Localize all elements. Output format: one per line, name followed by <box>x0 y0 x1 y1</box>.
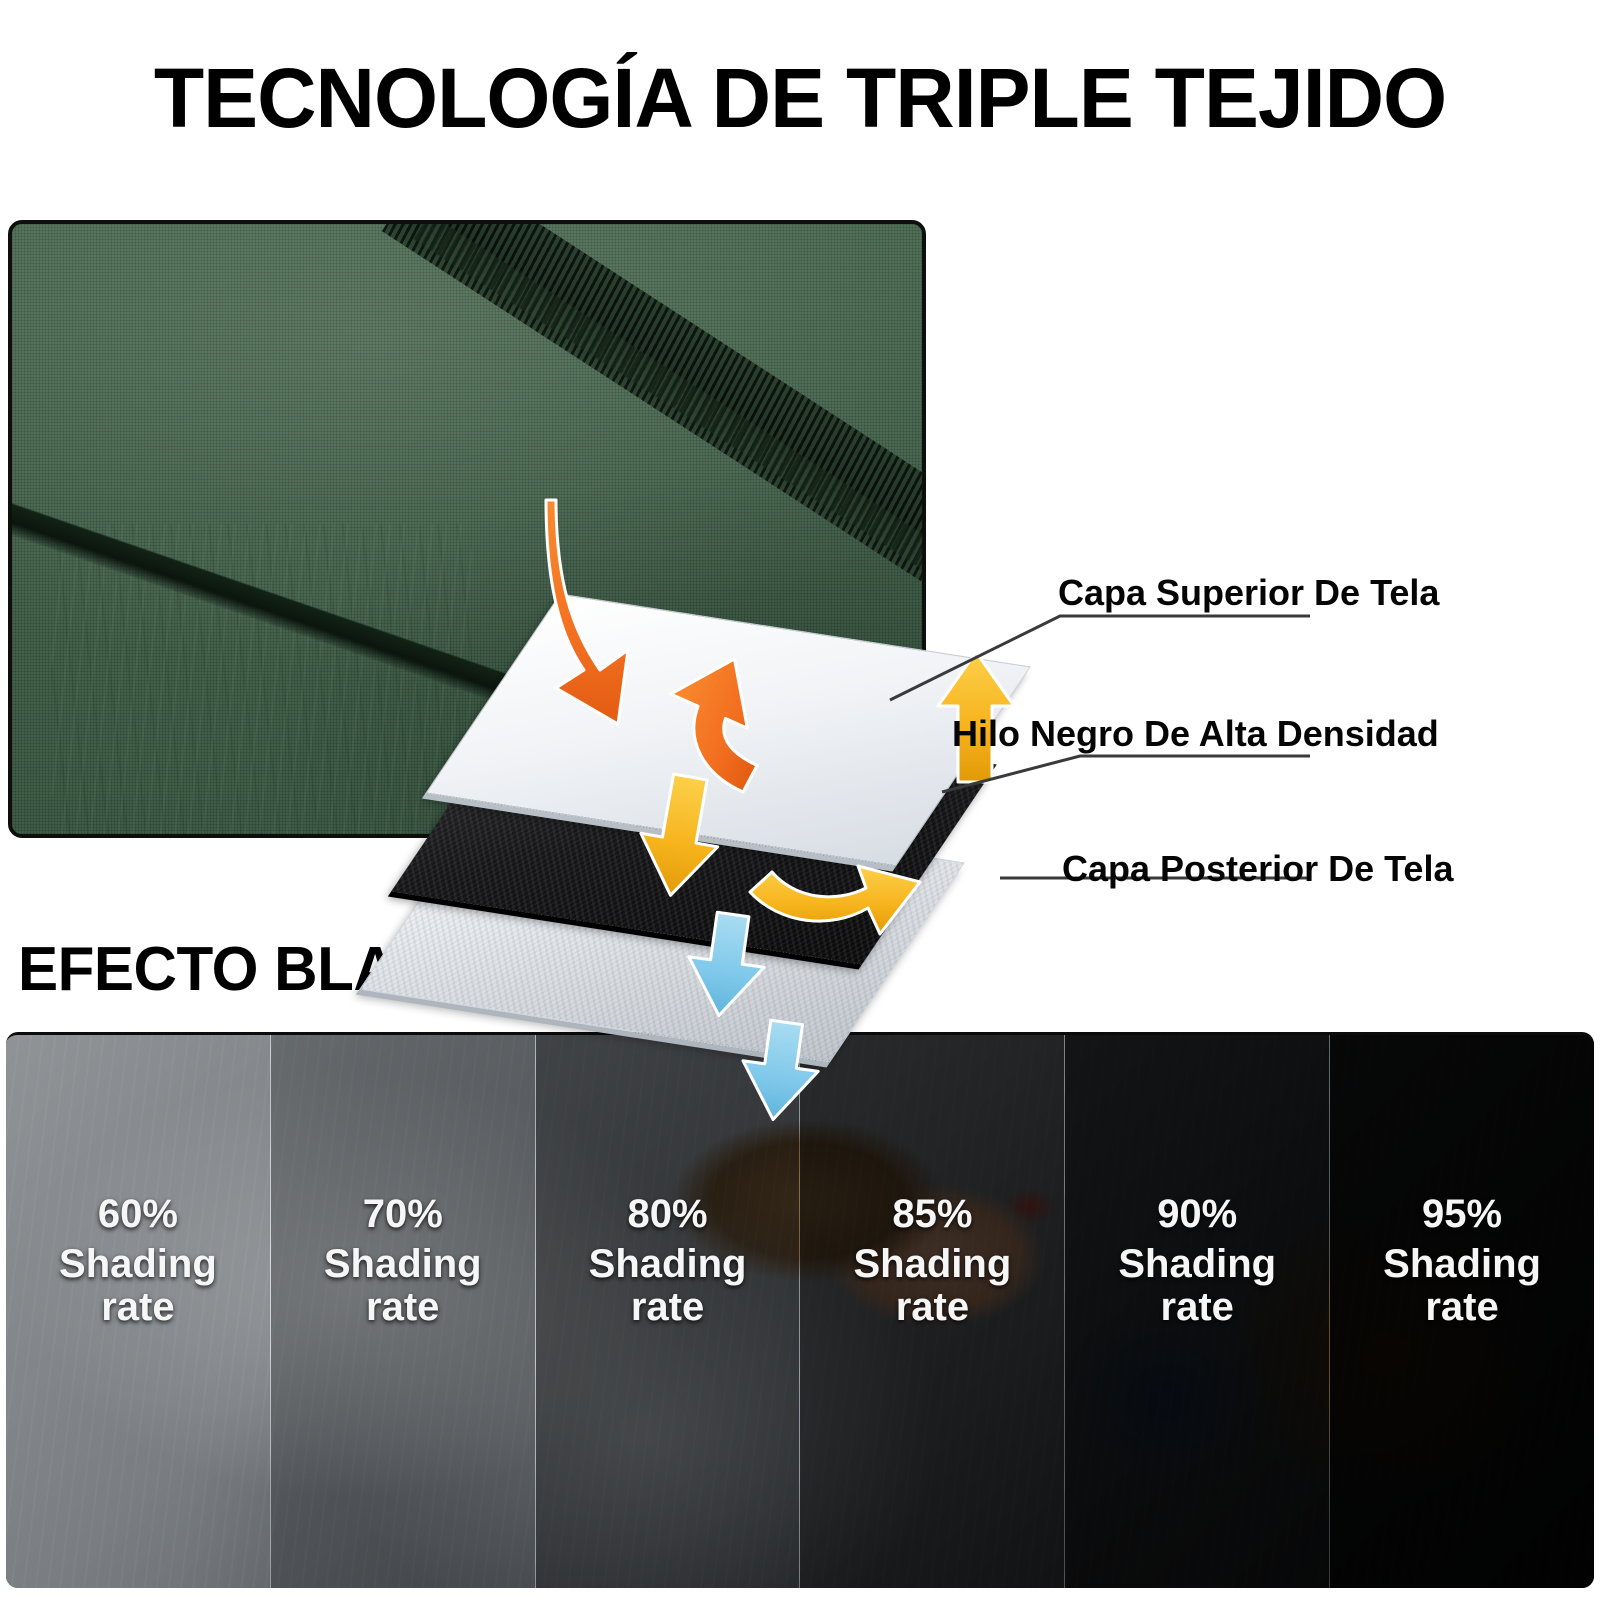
shading-label-line1-85: Shading <box>854 1243 1012 1285</box>
leader-line-top-layer <box>890 616 1310 700</box>
shading-panel-text-80: 80% Shading rate <box>589 1193 747 1328</box>
absorbed-heat-arrow-1 <box>631 770 729 902</box>
shading-percent-70: 70% <box>324 1193 482 1235</box>
shading-label-line2-80: rate <box>589 1286 747 1328</box>
shading-label-line2-70: rate <box>324 1286 482 1328</box>
shading-percent-60: 60% <box>59 1193 217 1235</box>
page-title: TECNOLOGÍA DE TRIPLE TEJIDO <box>16 56 1584 140</box>
shading-panel-text-90: 90% Shading rate <box>1118 1193 1276 1328</box>
blocked-light-arrow-1 <box>646 641 793 793</box>
shading-percent-95: 95% <box>1383 1193 1541 1235</box>
layer-label-black-yarn: Hilo Negro De Alta Densidad <box>952 713 1439 755</box>
reflected-light-arrow-1 <box>681 909 770 1021</box>
shading-panel-text-85: 85% Shading rate <box>854 1193 1012 1328</box>
incoming-light-arrow <box>546 500 628 724</box>
shading-panel-text-60: 60% Shading rate <box>59 1193 217 1328</box>
shading-panel-text-95: 95% Shading rate <box>1383 1193 1541 1328</box>
shading-percent-85: 85% <box>854 1193 1012 1235</box>
shading-panel-text-70: 70% Shading rate <box>324 1193 482 1328</box>
layer-label-top-fabric: Capa Superior De Tela <box>1058 572 1439 614</box>
shading-label-line1-70: Shading <box>324 1243 482 1285</box>
shading-label-line2-95: rate <box>1383 1286 1541 1328</box>
shading-label-line2-85: rate <box>854 1286 1012 1328</box>
shading-panel-60[interactable]: 60% Shading rate <box>6 1035 270 1588</box>
shading-label-line1-80: Shading <box>589 1243 747 1285</box>
shading-label-line2-60: rate <box>59 1286 217 1328</box>
shading-panel-95[interactable]: 95% Shading rate <box>1329 1035 1594 1588</box>
shading-label-line2-90: rate <box>1118 1286 1276 1328</box>
shading-label-line1-95: Shading <box>1383 1243 1541 1285</box>
reflected-light-arrow-2 <box>735 1017 824 1125</box>
shading-percent-80: 80% <box>589 1193 747 1235</box>
shading-label-line1-60: Shading <box>59 1243 217 1285</box>
shading-percent-90: 90% <box>1118 1193 1276 1235</box>
layer-label-back-fabric: Capa Posterior De Tela <box>1062 848 1453 890</box>
shading-label-line1-90: Shading <box>1118 1243 1276 1285</box>
leader-line-mid-layer <box>942 756 1310 792</box>
